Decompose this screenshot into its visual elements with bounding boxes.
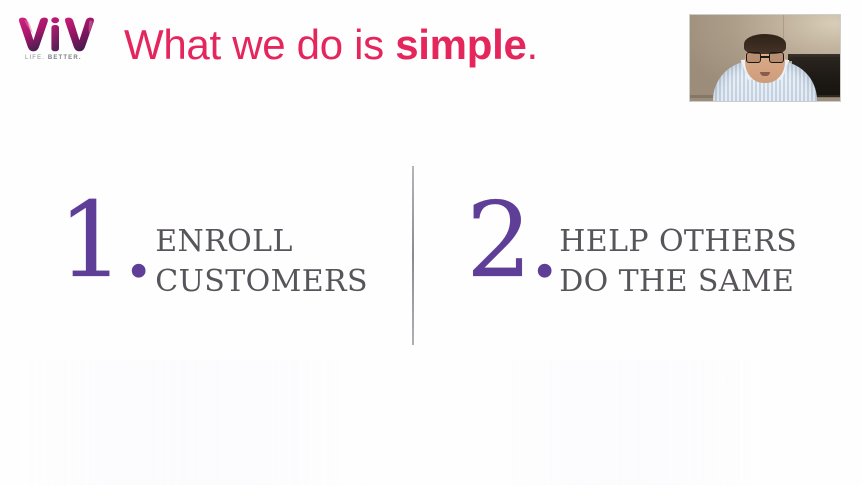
step-2-label-line-1: HELP OTHERS — [559, 222, 797, 262]
headline-period: . — [527, 21, 538, 68]
presentation-slide: LIFE. BETTER. What we do is simple. 1. E… — [0, 0, 862, 485]
logo-tagline-life: LIFE. — [25, 55, 45, 61]
slide-headline: What we do is simple. — [124, 20, 538, 70]
glasses-bridge — [761, 56, 769, 58]
step-2-number: 2. — [466, 192, 557, 288]
presenter-video-feed[interactable] — [690, 15, 840, 101]
step-1-label-line-1: ENROLL — [155, 222, 368, 262]
viv-brand-logo: LIFE. BETTER. — [17, 17, 109, 69]
viv-wordmark-icon — [17, 17, 99, 53]
logo-tagline-better: BETTER. — [48, 55, 82, 61]
step-1-label: ENROLL CUSTOMERS — [155, 222, 368, 302]
presenter-glasses-icon — [746, 52, 784, 63]
logo-tagline: LIFE. BETTER. — [25, 55, 82, 61]
glasses-lens-right — [769, 52, 784, 63]
step-item-2: 2. HELP OTHERS DO THE SAME — [466, 200, 797, 302]
vertical-divider — [412, 166, 414, 345]
presenter-hair — [744, 34, 786, 54]
step-1-label-line-2: CUSTOMERS — [155, 262, 368, 302]
step-1-number: 1. — [58, 192, 153, 288]
headline-normal-text: What we do is — [124, 21, 395, 68]
step-2-label-line-2: DO THE SAME — [559, 262, 797, 302]
step-2-label: HELP OTHERS DO THE SAME — [559, 222, 797, 302]
headline-strong-text: simple — [395, 21, 526, 68]
glasses-lens-left — [746, 52, 761, 63]
background-compression-artifacts — [0, 360, 862, 485]
step-item-1: 1. ENROLL CUSTOMERS — [58, 200, 368, 302]
